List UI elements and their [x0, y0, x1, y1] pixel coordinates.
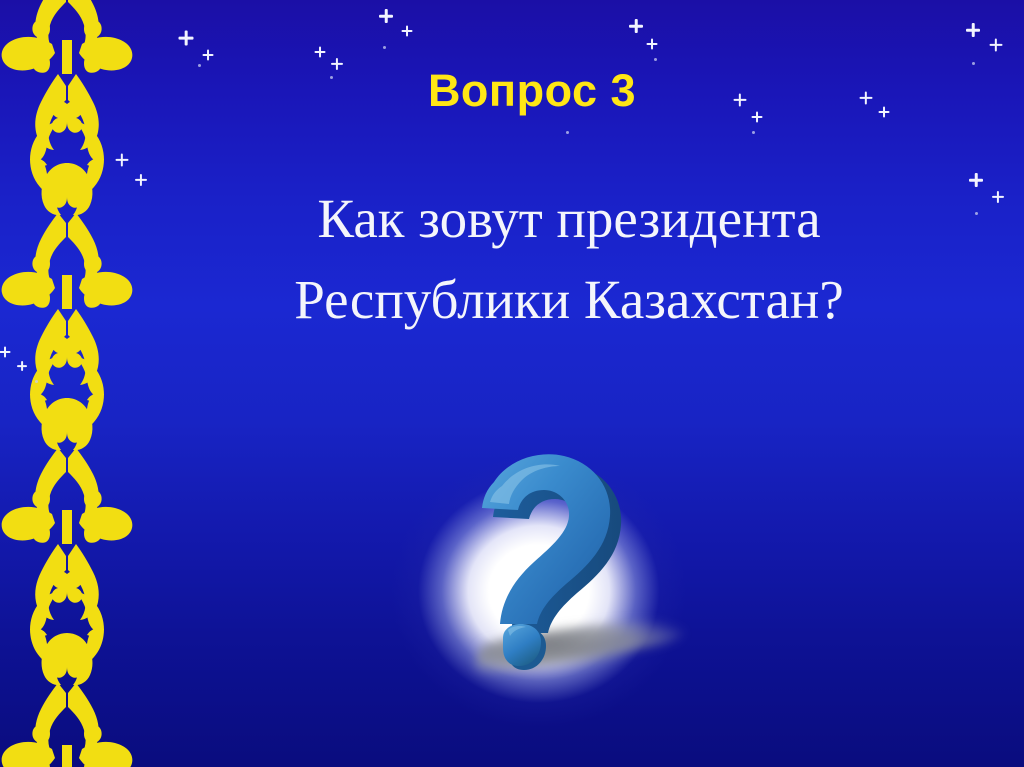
sparkle-star-icon [402, 26, 413, 37]
sparkle-star-icon [379, 9, 393, 23]
star-dot-icon [654, 58, 657, 61]
question-mark-3d-graphic [382, 430, 702, 740]
sparkle-star-icon [315, 47, 326, 58]
question-mark-stroke [482, 454, 610, 624]
question-line-2: Республики Казахстан? [146, 259, 992, 340]
star-dot-icon [752, 131, 755, 134]
page-title: Вопрос 3 [0, 66, 1024, 116]
star-dot-icon [35, 380, 38, 383]
sparkle-star-icon [992, 191, 1004, 203]
sparkle-star-icon [629, 19, 643, 33]
question-text: Как зовут президента Республики Казахста… [146, 178, 992, 341]
sparkle-star-icon [179, 31, 194, 46]
star-dot-icon [566, 131, 569, 134]
star-dot-icon [383, 46, 386, 49]
question-mark-shape [382, 430, 702, 740]
sparkle-star-icon [990, 39, 1003, 52]
sparkle-star-icon [966, 23, 980, 37]
presentation-slide: Вопрос 3 Как зовут президента Республики… [0, 0, 1024, 767]
question-line-1: Как зовут президента [146, 178, 992, 259]
sparkle-star-icon [203, 50, 214, 61]
star-dot-icon [972, 62, 975, 65]
sparkle-star-icon [647, 39, 658, 50]
